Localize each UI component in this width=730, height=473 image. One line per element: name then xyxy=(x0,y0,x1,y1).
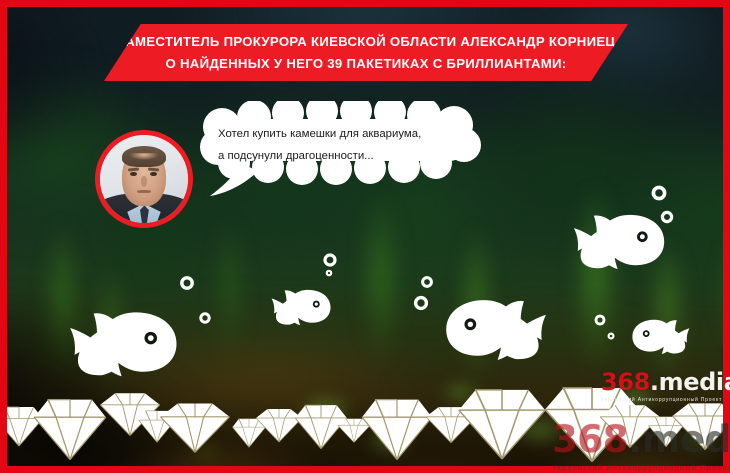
bubble-icon xyxy=(609,334,614,339)
fish-silhouette-lower-right xyxy=(446,300,546,360)
speech-line-2: а подсунули драгоценности... xyxy=(218,145,468,167)
bubble-icon xyxy=(182,278,192,288)
infographic-poster: 368.media Украинский Антикоррупционный П… xyxy=(0,0,730,473)
watermark-bottom-suffix: .media xyxy=(628,418,730,461)
fish-silhouette-center xyxy=(272,290,331,325)
avatar-eyebrow-right xyxy=(148,167,159,171)
watermark-top-number: 368 xyxy=(601,368,650,396)
speech-line-1: Хотел купить камешки для аквариума, xyxy=(218,123,468,145)
bubble-icon xyxy=(201,314,209,322)
headline-banner: ЗАМЕСТИТЕЛЬ ПРОКУРОРА КИЕВСКОЙ ОБЛАСТИ А… xyxy=(104,24,628,81)
bubble-icon xyxy=(596,316,604,324)
avatar-nose xyxy=(141,176,147,187)
diamond-icon xyxy=(7,407,43,446)
watermark-logo-bottom: 368.media Украинский Антикоррупционный П… xyxy=(552,418,724,472)
bubble-icon xyxy=(423,278,432,287)
speech-bubble: Хотел купить камешки для аквариума, а по… xyxy=(188,101,488,197)
fish-silhouette-left xyxy=(70,312,176,376)
diamond-icon xyxy=(362,400,432,460)
avatar xyxy=(95,130,193,228)
headline-line-1: ЗАМЕСТИТЕЛЬ ПРОКУРОРА КИЕВСКОЙ ОБЛАСТИ А… xyxy=(117,31,616,52)
avatar-hair xyxy=(122,146,166,167)
watermark-bottom-wordmark: 368.media xyxy=(552,418,724,461)
bubble-icon xyxy=(325,255,335,265)
diamond-icon xyxy=(459,390,545,459)
watermark-logo-top: 368.media Украинский Антикоррупционный П… xyxy=(601,368,715,403)
bubble-icon xyxy=(662,212,671,221)
watermark-top-tagline: Украинский Антикоррупционный Проект xyxy=(601,397,715,403)
fish-silhouette-far-right xyxy=(632,320,689,354)
watermark-top-wordmark: 368.media xyxy=(601,368,715,396)
watermark-bottom-number: 368 xyxy=(552,418,628,461)
watermark-top-suffix: .media xyxy=(650,368,730,396)
fish-silhouette-upper-right xyxy=(574,215,664,269)
headline-line-2: О НАЙДЕННЫХ У НЕГО 39 ПАКЕТИКАХ С БРИЛЛИ… xyxy=(166,53,567,74)
diamond-icon xyxy=(256,409,302,442)
diamond-icon xyxy=(160,403,229,452)
bubble-icon xyxy=(327,271,331,275)
watermark-bottom-tagline: Украинский Антикоррупционный Проект xyxy=(552,463,724,472)
avatar-mouth xyxy=(137,190,151,192)
avatar-photo xyxy=(100,135,188,223)
speech-bubble-text: Хотел купить камешки для аквариума, а по… xyxy=(218,123,468,167)
diamond-icon xyxy=(34,400,106,460)
bubble-icon xyxy=(416,298,427,309)
bubble-icon xyxy=(653,187,664,198)
avatar-eyebrow-left xyxy=(128,167,139,171)
diamond-icon xyxy=(338,419,371,443)
